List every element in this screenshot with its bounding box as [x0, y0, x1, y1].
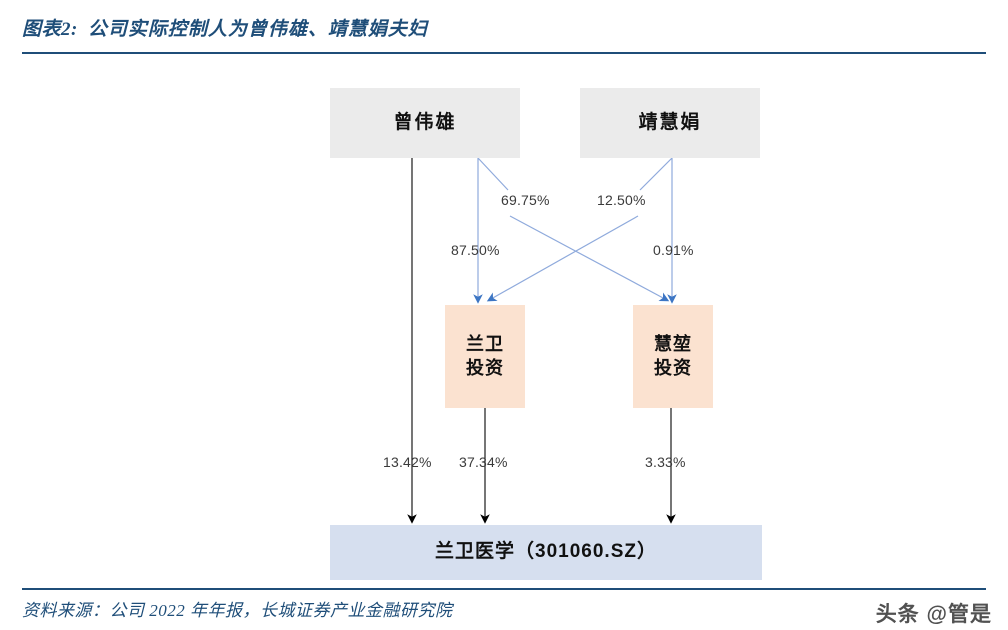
node-jing-huijuan: 靖慧娟	[580, 88, 760, 158]
node-lanwei-medicine: 兰卫医学（301060.SZ）	[330, 525, 762, 580]
exhibit-number: 图表2:	[22, 14, 78, 41]
edge-label-zeng-lanwei: 87.50%	[451, 242, 500, 258]
edge-jing-lanwei	[491, 216, 638, 299]
node-zeng-weixiong: 曾伟雄	[330, 88, 520, 158]
edge-label-jing-lanwei: 12.50%	[597, 192, 646, 208]
node-huikun-investment: 慧堃 投资	[633, 305, 713, 408]
node-huikun-line2: 投资	[654, 357, 692, 380]
edge-label-jing-huikun: 0.91%	[653, 242, 694, 258]
node-lanwei-line2: 投资	[466, 357, 504, 380]
edge-label-zeng-company: 13.42%	[383, 454, 432, 470]
footer-divider	[22, 588, 986, 590]
exhibit-header: 图表2: 公司实际控制人为曾伟雄、靖慧娟夫妇	[22, 14, 428, 41]
watermark-label: 头条 @管是	[876, 598, 992, 628]
node-huikun-line1: 慧堃	[654, 333, 692, 356]
node-lanwei-line1: 兰卫	[466, 333, 504, 356]
page-title: 公司实际控制人为曾伟雄、靖慧娟夫妇	[88, 14, 428, 41]
exhibit-page: 图表2: 公司实际控制人为曾伟雄、靖慧娟夫妇	[0, 0, 1008, 630]
edge-zeng-huikun	[510, 216, 665, 299]
edge-label-zeng-huikun: 69.75%	[501, 192, 550, 208]
node-lanwei-investment: 兰卫 投资	[445, 305, 525, 408]
edge-label-lanwei-company: 37.34%	[459, 454, 508, 470]
source-note: 资料来源：公司 2022 年年报，长城证券产业金融研究院	[22, 596, 453, 621]
ownership-diagram: 曾伟雄 靖慧娟 兰卫 投资 慧堃 投资 兰卫医学（301060.SZ） 69.7…	[0, 56, 1008, 586]
header-divider	[22, 52, 986, 54]
edge-label-huikun-company: 3.33%	[645, 454, 686, 470]
